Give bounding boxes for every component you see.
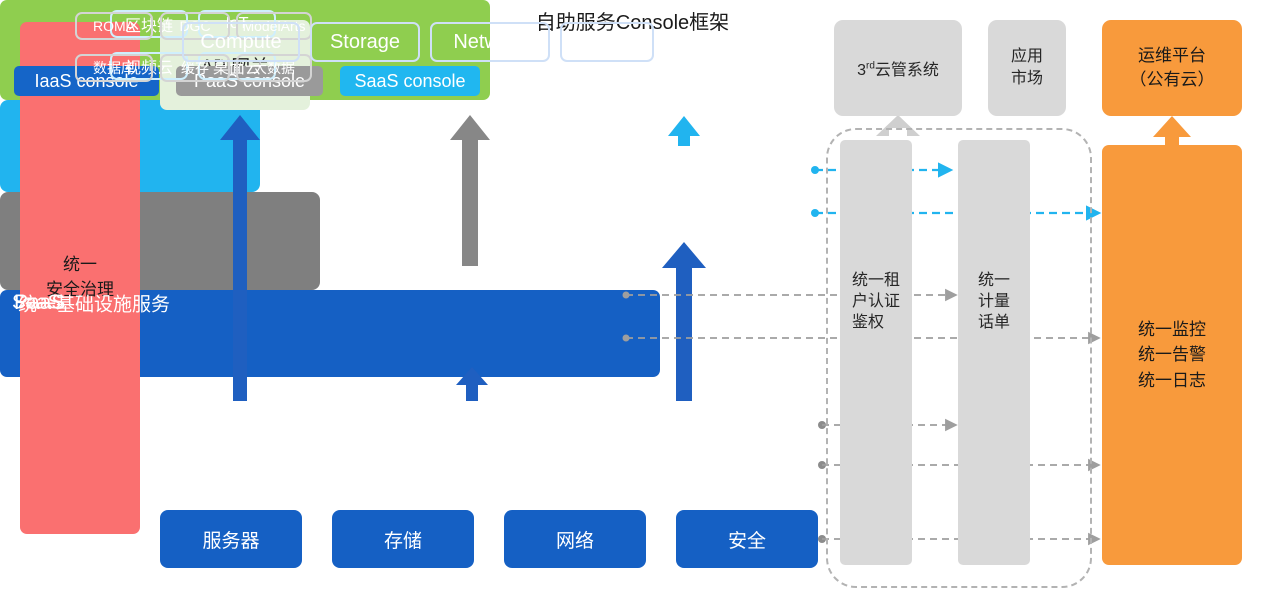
- hardware-server-label: 服务器: [202, 526, 259, 553]
- ops-column-line3: 统一日志: [1138, 368, 1206, 394]
- infra-chip-compute-label: Compute: [200, 31, 281, 54]
- hardware-storage-box[interactable]: 存储: [332, 510, 474, 568]
- saas-console-chip[interactable]: SaaS console: [340, 66, 480, 96]
- hardware-network-label: 网络: [556, 526, 594, 553]
- paas-chip-database[interactable]: 数据库: [75, 54, 153, 82]
- hardware-storage-label: 存储: [384, 526, 422, 553]
- third-party-prefix: 3: [857, 62, 866, 79]
- arrow-infra-to-saas: [662, 242, 706, 401]
- unified-tenant-auth-column[interactable]: 统一租 户认证 鉴权: [840, 140, 912, 565]
- third-party-label: 3rd云管系统: [857, 56, 939, 80]
- infra-chip-cce[interactable]: CCE: [560, 22, 654, 62]
- third-party-suffix: 云管系统: [875, 62, 939, 79]
- paas-chip-roma-label: ROMA: [93, 18, 135, 34]
- ops-column-line1: 统一监控: [1138, 317, 1206, 343]
- unified-metering-column[interactable]: 统一 计量 话单: [958, 140, 1030, 565]
- infra-bar-label: 统一基础设施服务: [18, 289, 170, 316]
- saas-console-label: SaaS console: [354, 71, 465, 92]
- third-party-superscript: rd: [866, 61, 875, 72]
- security-governance-line1: 统一: [46, 253, 114, 278]
- hardware-server-box[interactable]: 服务器: [160, 510, 302, 568]
- infra-chip-network[interactable]: Network: [430, 22, 550, 62]
- arrow-paas-to-console: [450, 115, 490, 266]
- app-market-line1: 应用: [1011, 46, 1043, 68]
- metering-line2: 计量: [978, 291, 1010, 312]
- ops-platform-line1: 运维平台: [1130, 44, 1215, 68]
- ops-platform-line2: （公有云）: [1130, 68, 1215, 92]
- infra-chip-network-label: Network: [453, 31, 526, 54]
- ops-platform-box[interactable]: 运维平台 （公有云）: [1102, 20, 1242, 116]
- app-market-box[interactable]: 应用 市场: [988, 20, 1066, 116]
- hardware-network-box[interactable]: 网络: [504, 510, 646, 568]
- arrow-saas-to-saas-console: [668, 116, 700, 146]
- infra-chip-storage-label: Storage: [330, 31, 400, 54]
- infra-chip-storage[interactable]: Storage: [310, 22, 420, 62]
- ops-column[interactable]: 统一监控 统一告警 统一日志: [1102, 145, 1242, 565]
- metering-line3: 话单: [978, 312, 1010, 333]
- auth-line3: 鉴权: [852, 312, 900, 333]
- app-market-line2: 市场: [1011, 68, 1043, 90]
- hardware-security-box[interactable]: 安全: [676, 510, 818, 568]
- architecture-diagram-canvas: 统一 安全治理 API网关 自助服务Console框架 IaaS console…: [0, 0, 1265, 605]
- infra-chip-compute[interactable]: Compute: [182, 22, 300, 62]
- security-governance-panel[interactable]: 统一 安全治理: [20, 22, 140, 534]
- auth-line1: 统一租: [852, 270, 900, 291]
- hardware-security-label: 安全: [728, 526, 766, 553]
- arrow-ops-column-to-ops-platform: [1153, 116, 1191, 145]
- third-party-cloud-mgmt-box[interactable]: 3rd云管系统: [834, 20, 962, 116]
- paas-chip-database-label: 数据库: [93, 58, 135, 78]
- metering-line1: 统一: [978, 270, 1010, 291]
- infra-chip-cce-label: CCE: [586, 31, 628, 54]
- paas-chip-roma[interactable]: ROMA: [75, 12, 153, 40]
- ops-column-line2: 统一告警: [1138, 342, 1206, 368]
- auth-line2: 户认证: [852, 291, 900, 312]
